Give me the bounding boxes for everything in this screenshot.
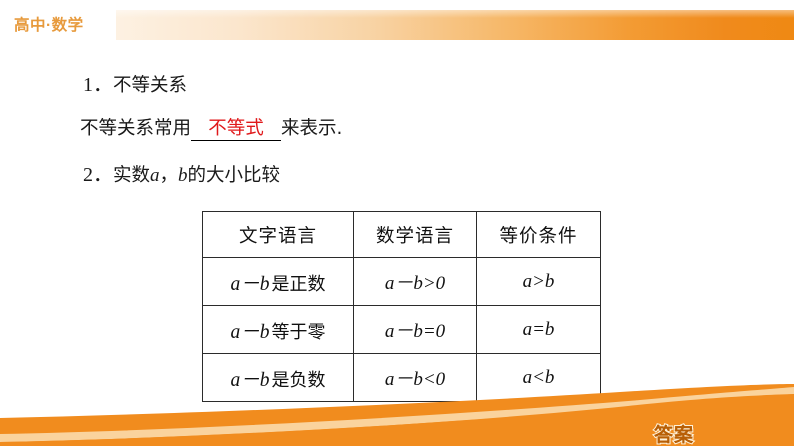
- variable-a: a: [150, 165, 160, 186]
- cell-text-language: a－b是正数: [203, 258, 354, 306]
- table-row: a－b等于零 a－b=0 a=b: [203, 306, 601, 354]
- cell-equivalent-condition: a=b: [477, 306, 601, 354]
- table-row: a－b是负数 a－b<0 a<b: [203, 354, 601, 402]
- cell-expression: a－b: [230, 370, 269, 391]
- cell-expression: a－b: [230, 322, 269, 343]
- cell-description: 等于零: [270, 322, 326, 343]
- section-1-heading: 1．不等关系: [83, 75, 187, 96]
- cell-equivalent-condition: a<b: [477, 354, 601, 402]
- sentence-suffix: 来表示.: [281, 118, 342, 139]
- cell-math-language: a－b=0: [354, 306, 477, 354]
- brand-logo: 高中·数学: [14, 13, 84, 35]
- table-header-math-language: 数学语言: [354, 212, 477, 258]
- cell-text-language: a－b是负数: [203, 354, 354, 402]
- table-header-equivalent-condition: 等价条件: [477, 212, 601, 258]
- cell-text-language: a－b等于零: [203, 306, 354, 354]
- table-header-text-language: 文字语言: [203, 212, 354, 258]
- header-bar-sheen: [116, 10, 794, 18]
- answer-blank: 不等式: [191, 118, 281, 141]
- section-2-number: 2．: [83, 164, 113, 186]
- comparison-table: 文字语言 数学语言 等价条件 a－b是正数 a－b>0 a>b a－b等于零 a…: [202, 211, 601, 402]
- cell-description: 是负数: [270, 370, 326, 391]
- variable-separator: ，: [160, 165, 179, 186]
- answer-blank-value: 不等式: [208, 118, 264, 139]
- section-2-heading: 2．实数a，b的大小比较: [83, 165, 280, 186]
- cell-math-language: a－b>0: [354, 258, 477, 306]
- sentence-prefix: 不等关系常用: [80, 118, 191, 139]
- cell-equivalent-condition: a>b: [477, 258, 601, 306]
- header-banner: 高中·数学: [0, 0, 794, 52]
- variable-b: b: [178, 165, 188, 186]
- table-header-row: 文字语言 数学语言 等价条件: [203, 212, 601, 258]
- section-2-title-suffix: 的大小比较: [188, 165, 281, 186]
- section-1-title: 不等关系: [113, 75, 187, 96]
- cell-description: 是正数: [270, 274, 326, 295]
- cell-expression: a－b: [230, 274, 269, 295]
- cell-math-language: a－b<0: [354, 354, 477, 402]
- section-2-title-prefix: 实数: [113, 165, 150, 186]
- table-row: a－b是正数 a－b>0 a>b: [203, 258, 601, 306]
- section-1-sentence: 不等关系常用不等式来表示.: [80, 118, 342, 141]
- section-1-number: 1．: [83, 74, 113, 96]
- answer-badge: 答案: [654, 420, 694, 447]
